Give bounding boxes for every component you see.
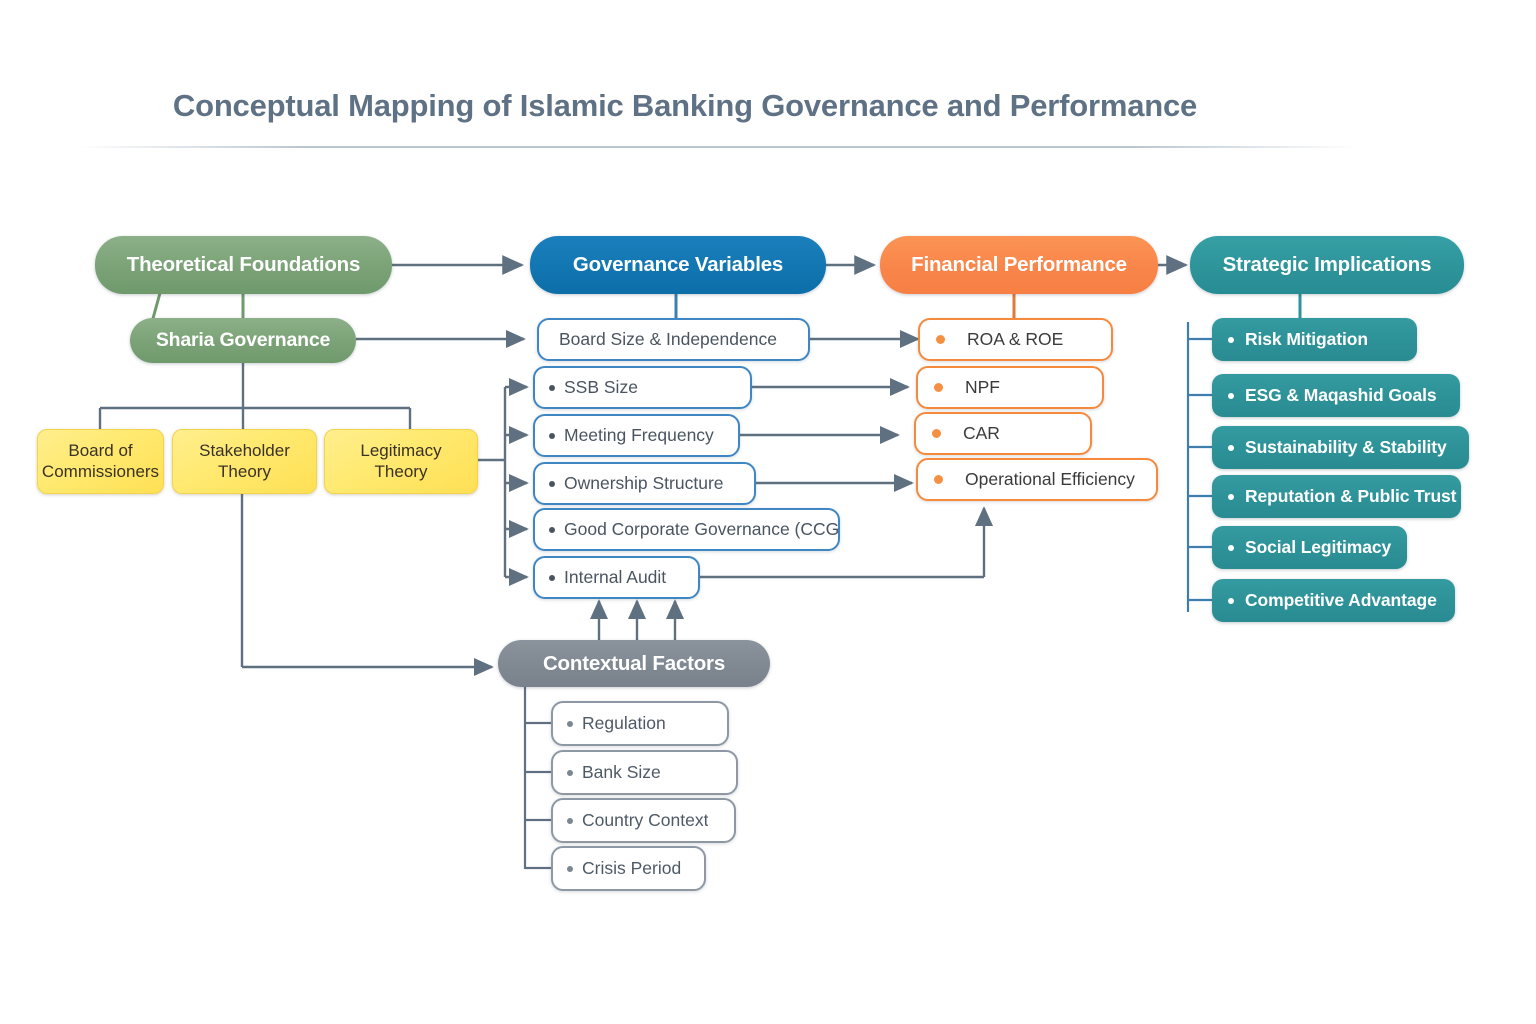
header-governance-variables-label: Governance Variables — [573, 253, 783, 277]
contextual-item-2-label: Country Context — [582, 810, 708, 831]
contextual-item-3-label: Crisis Period — [582, 858, 681, 879]
header-governance-variables[interactable]: Governance Variables — [530, 236, 826, 294]
bullet-icon — [549, 385, 555, 391]
header-financial-performance[interactable]: Financial Performance — [880, 236, 1158, 294]
header-strategic-implications[interactable]: Strategic Implications — [1190, 236, 1464, 294]
list-item[interactable]: Sustainability & Stability — [1212, 426, 1469, 469]
strategic-item-2-label: Sustainability & Stability — [1245, 437, 1447, 458]
list-item[interactable]: ROA & ROE — [918, 318, 1113, 361]
financial-item-3-label: Operational Efficiency — [965, 469, 1135, 490]
contextual-item-1-label: Bank Size — [582, 762, 661, 783]
contextual-item-0-label: Regulation — [582, 713, 666, 734]
header-theoretical-foundations-label: Theoretical Foundations — [127, 253, 360, 277]
list-item[interactable]: Good Corporate Governance (CCG) — [533, 508, 840, 551]
list-item[interactable]: Reputation & Public Trust — [1212, 475, 1461, 518]
node-board-of-commissioners-label: Board of Commissioners — [42, 441, 159, 482]
bullet-icon — [567, 770, 573, 776]
bullet-icon — [1228, 445, 1234, 451]
list-item[interactable]: Bank Size — [551, 750, 738, 795]
node-legitimacy-theory-label: Legitimacy Theory — [360, 441, 441, 482]
bullet-icon — [932, 429, 941, 438]
list-item[interactable]: Crisis Period — [551, 846, 706, 891]
governance-item-1-label: SSB Size — [564, 377, 638, 398]
bullet-icon — [934, 383, 943, 392]
governance-item-4-label: Good Corporate Governance (CCG) — [564, 519, 838, 540]
bullet-icon — [1228, 494, 1234, 500]
node-sharia-governance[interactable]: Sharia Governance — [130, 318, 356, 363]
node-stakeholder-theory[interactable]: Stakeholder Theory — [172, 429, 317, 494]
header-strategic-implications-label: Strategic Implications — [1223, 253, 1432, 277]
bullet-icon — [549, 527, 555, 533]
list-item[interactable]: Meeting Frequency — [533, 414, 740, 457]
financial-item-0-label: ROA & ROE — [967, 329, 1063, 350]
financial-item-2-label: CAR — [963, 423, 1000, 444]
header-contextual-factors-label: Contextual Factors — [543, 652, 725, 676]
bullet-icon — [1228, 598, 1234, 604]
bullet-icon — [1228, 337, 1234, 343]
list-item[interactable]: Board Size & Independence — [537, 318, 810, 361]
list-item[interactable]: Country Context — [551, 798, 736, 843]
bullet-icon — [934, 475, 943, 484]
node-sharia-governance-label: Sharia Governance — [156, 329, 330, 352]
bullet-icon — [549, 433, 555, 439]
strategic-item-3-label: Reputation & Public Trust — [1245, 486, 1456, 507]
bullet-icon — [549, 575, 555, 581]
list-item[interactable]: NPF — [916, 366, 1104, 409]
list-item[interactable]: Ownership Structure — [533, 462, 756, 505]
bullet-icon — [567, 818, 573, 824]
page-title: Conceptual Mapping of Islamic Banking Go… — [0, 88, 1370, 124]
node-stakeholder-theory-label: Stakeholder Theory — [199, 441, 290, 482]
governance-item-5-label: Internal Audit — [564, 567, 666, 588]
list-item[interactable]: CAR — [914, 412, 1092, 455]
governance-item-3-label: Ownership Structure — [564, 473, 724, 494]
strategic-item-5-label: Competitive Advantage — [1245, 590, 1437, 611]
financial-item-1-label: NPF — [965, 377, 1000, 398]
list-item[interactable]: Competitive Advantage — [1212, 579, 1455, 622]
bullet-icon — [936, 335, 945, 344]
bullet-icon — [1228, 393, 1234, 399]
strategic-item-1-label: ESG & Maqashid Goals — [1245, 385, 1437, 406]
node-board-of-commissioners[interactable]: Board of Commissioners — [37, 429, 164, 494]
header-contextual-factors[interactable]: Contextual Factors — [498, 640, 770, 687]
bullet-icon — [549, 481, 555, 487]
governance-item-0-label: Board Size & Independence — [559, 329, 777, 350]
bullet-icon — [1228, 545, 1234, 551]
list-item[interactable]: Internal Audit — [533, 556, 700, 599]
list-item[interactable]: Risk Mitigation — [1212, 318, 1417, 361]
governance-item-2-label: Meeting Frequency — [564, 425, 714, 446]
list-item[interactable]: Regulation — [551, 701, 729, 746]
diagram-canvas: Conceptual Mapping of Islamic Banking Go… — [0, 0, 1536, 1024]
strategic-item-0-label: Risk Mitigation — [1245, 329, 1368, 350]
bullet-icon — [567, 866, 573, 872]
strategic-item-4-label: Social Legitimacy — [1245, 537, 1391, 558]
header-theoretical-foundations[interactable]: Theoretical Foundations — [95, 236, 392, 294]
node-legitimacy-theory[interactable]: Legitimacy Theory — [324, 429, 478, 494]
list-item[interactable]: Operational Efficiency — [916, 458, 1158, 501]
bullet-icon — [567, 721, 573, 727]
title-divider — [78, 146, 1358, 148]
header-financial-performance-label: Financial Performance — [911, 253, 1127, 277]
list-item[interactable]: SSB Size — [533, 366, 752, 409]
list-item[interactable]: Social Legitimacy — [1212, 526, 1407, 569]
list-item[interactable]: ESG & Maqashid Goals — [1212, 374, 1460, 417]
